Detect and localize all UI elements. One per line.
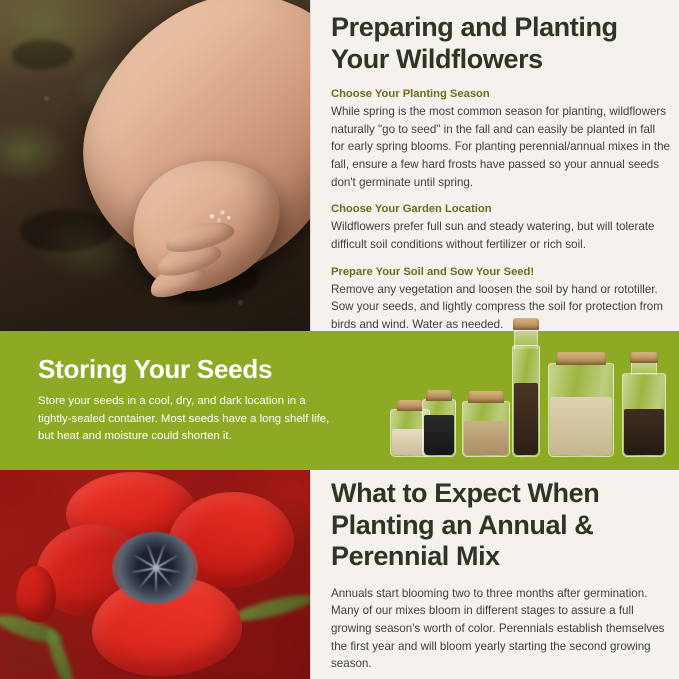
jar-contents (464, 421, 508, 455)
body-prepare-soil: Remove any vegetation and loosen the soi… (331, 281, 671, 334)
section-storing-your-seeds: Storing Your Seeds Store your seeds in a… (0, 331, 679, 470)
seed-jar (462, 401, 510, 457)
body-planting-season: While spring is the most common season f… (331, 103, 671, 191)
jar-cork (397, 400, 423, 411)
jar-cork (513, 318, 539, 330)
section-preparing-and-planting: Preparing and Planting Your Wildflowers … (0, 0, 679, 331)
jar-contents (514, 383, 538, 455)
divider-bottom (310, 470, 311, 679)
jar-cork (630, 352, 658, 363)
hand-sowing-seeds-in-soil-photo (0, 0, 310, 331)
infographic-page: Preparing and Planting Your Wildflowers … (0, 0, 679, 679)
jar-cork (556, 352, 606, 365)
seed-jar (422, 399, 456, 457)
jar-neck (631, 361, 657, 375)
expect-text-column: What to Expect When Planting an Annual &… (331, 470, 679, 679)
block-planting-season: Choose Your Planting Season While spring… (331, 87, 671, 191)
poppy-stamen (155, 568, 157, 594)
subheading-planting-season: Choose Your Planting Season (331, 87, 671, 102)
block-prepare-soil: Prepare Your Soil and Sow Your Seed! Rem… (331, 265, 671, 334)
red-poppy-flower-photo (0, 470, 310, 679)
seed-storage-jars-photo (386, 339, 671, 463)
soil-speck (238, 300, 243, 305)
page-title-storing: Storing Your Seeds (38, 354, 338, 384)
storing-text-column: Storing Your Seeds Store your seeds in a… (38, 354, 338, 456)
poppy-stamen-center (112, 532, 198, 604)
page-title-what-to-expect: What to Expect When Planting an Annual &… (331, 478, 671, 573)
divider-top (310, 0, 311, 331)
body-what-to-expect: Annuals start blooming two to three mont… (331, 585, 671, 673)
seed-jar (512, 345, 540, 457)
block-garden-location: Choose Your Garden Location Wildflowers … (331, 202, 671, 253)
jar-neck (514, 327, 538, 349)
section-what-to-expect: What to Expect When Planting an Annual &… (0, 470, 679, 679)
page-title-preparing: Preparing and Planting Your Wildflowers (331, 12, 671, 75)
seed-jar (548, 363, 614, 457)
soil-speck (44, 96, 49, 101)
seed-jar (622, 373, 666, 457)
jar-cork (426, 390, 452, 401)
body-garden-location: Wildflowers prefer full sun and steady w… (331, 218, 671, 253)
jar-contents (424, 415, 454, 455)
body-storing: Store your seeds in a cool, dry, and dar… (38, 393, 338, 444)
jar-contents (550, 397, 612, 455)
preparing-text-column: Preparing and Planting Your Wildflowers … (331, 0, 679, 331)
subheading-prepare-soil: Prepare Your Soil and Sow Your Seed! (331, 265, 671, 280)
subheading-garden-location: Choose Your Garden Location (331, 202, 671, 217)
poppy-bud (16, 566, 56, 622)
jar-contents (624, 409, 664, 455)
jar-cork (468, 391, 504, 403)
